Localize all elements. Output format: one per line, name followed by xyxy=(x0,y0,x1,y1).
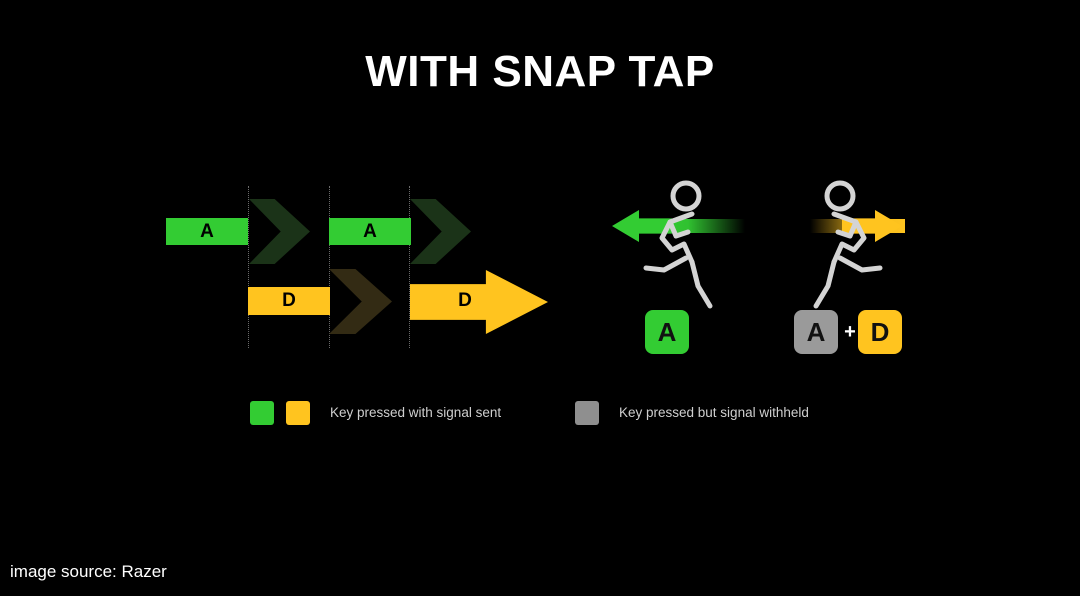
timeline-segment-a-sent-2: A xyxy=(329,218,411,245)
runner-panel-right: A + D xyxy=(800,178,960,358)
runner-panel-left: A xyxy=(612,178,732,358)
timeline-tick-1 xyxy=(248,186,249,348)
keycap-a-left[interactable]: A xyxy=(645,310,689,354)
legend-swatch-grey xyxy=(575,401,599,425)
running-person-right-icon xyxy=(794,178,914,328)
timeline-tick-3 xyxy=(409,186,410,348)
timeline-segment-d-sent-1: D xyxy=(248,287,330,315)
timeline-segment-a-withheld-1 xyxy=(249,199,310,264)
keycap-separator: + xyxy=(840,310,860,354)
image-source-caption: image source: Razer xyxy=(10,562,167,582)
timeline-segment-a-sent-1: A xyxy=(166,218,248,245)
keycap-label: A xyxy=(794,310,838,354)
timeline-segment-label: A xyxy=(329,218,411,245)
legend-item-signal-sent: Key pressed with signal sent xyxy=(250,401,550,427)
keycap-label: D xyxy=(858,310,902,354)
legend-item-signal-withheld: Key pressed but signal withheld xyxy=(575,401,905,427)
timeline-segment-d-withheld-1 xyxy=(329,269,392,334)
legend-label: Key pressed with signal sent xyxy=(330,401,501,425)
timeline-segment-label: A xyxy=(166,218,248,245)
legend-label: Key pressed but signal withheld xyxy=(619,401,809,425)
legend-swatch-green xyxy=(250,401,274,425)
legend-swatch-yellow xyxy=(286,401,310,425)
timeline-segment-a-withheld-2 xyxy=(410,199,471,264)
keycap-d-right[interactable]: D xyxy=(858,310,902,354)
keycap-a-right[interactable]: A xyxy=(794,310,838,354)
timeline-tick-2 xyxy=(329,186,330,348)
running-person-left-icon xyxy=(612,178,732,328)
timeline-segment-label: D xyxy=(410,287,520,314)
keycap-label: A xyxy=(645,310,689,354)
timeline-segment-d-sent-2-label-holder: D xyxy=(410,287,520,315)
timeline-segment-label: D xyxy=(248,287,330,314)
